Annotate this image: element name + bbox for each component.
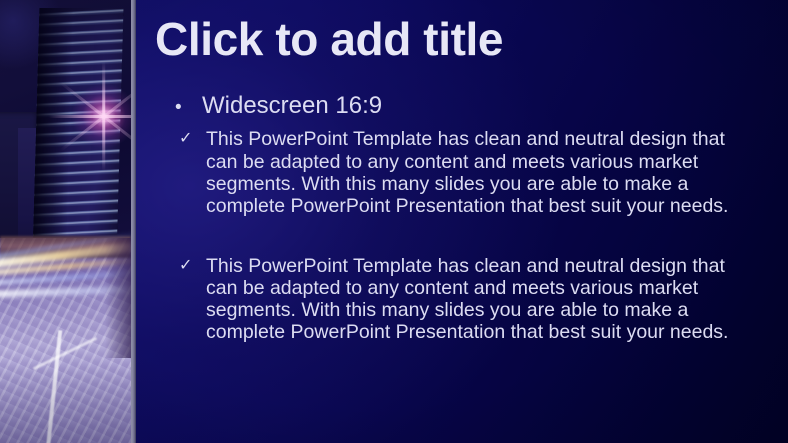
checkmark-bullet-icon: ✓ [179,128,206,150]
bullet-item-level1-label: Widescreen 16:9 [202,92,382,120]
street-right-shadow [105,238,131,358]
bullet-item-level2-second[interactable]: ✓ This PowerPoint Template has clean and… [179,255,761,344]
image-panel-border [131,0,136,443]
checkmark-bullet-icon: ✓ [179,255,206,277]
bullet-item-level2-second-text: This PowerPoint Template has clean and n… [206,255,752,344]
round-bullet-icon: • [175,98,202,117]
left-image-panel [0,0,131,443]
skyscraper-shadow-side [33,8,74,258]
bullet-item-level1[interactable]: • Widescreen 16:9 [175,92,761,120]
bullet-item-level2-first-text: This PowerPoint Template has clean and n… [206,128,752,217]
title-placeholder[interactable]: Click to add title [155,14,755,65]
body-placeholder[interactable]: • Widescreen 16:9 ✓ This PowerPoint Temp… [175,92,761,344]
lens-flare-ray-horizontal [49,115,131,118]
slide-canvas: Click to add title • Widescreen 16:9 ✓ T… [0,0,788,443]
bullet-item-level2-first[interactable]: ✓ This PowerPoint Template has clean and… [179,128,761,217]
